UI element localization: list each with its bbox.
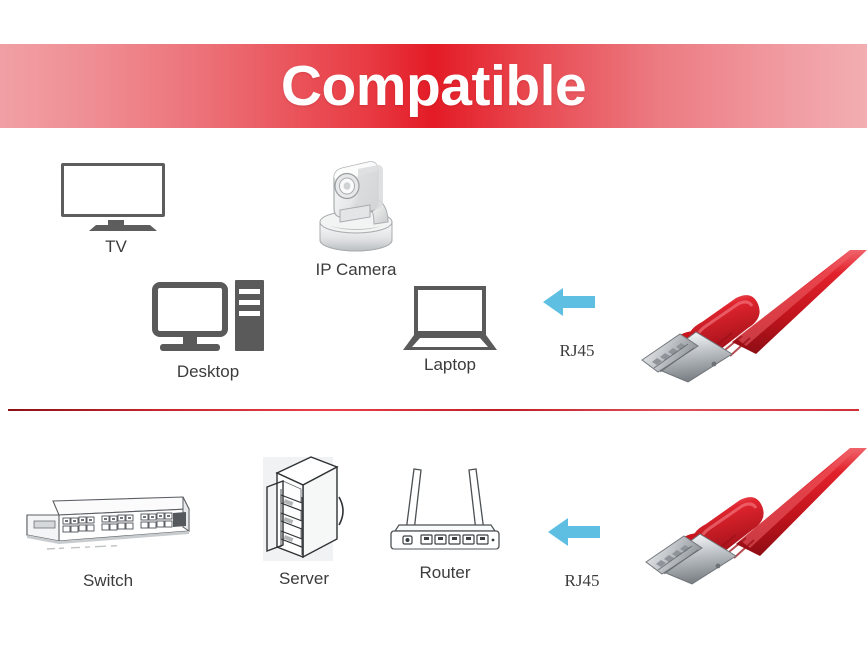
arrow-left-glyph bbox=[546, 515, 602, 549]
tv-screen bbox=[61, 163, 165, 217]
device-switch: Switch bbox=[22, 495, 194, 591]
arrow-left-icon bbox=[541, 285, 597, 319]
rj45-indicator-top: RJ45 bbox=[541, 285, 613, 361]
ethernet-cable-icon bbox=[644, 448, 867, 583]
ethernet-cable-icon bbox=[636, 250, 867, 380]
arrow-left-icon bbox=[546, 515, 602, 549]
ip-camera-glyph bbox=[310, 160, 402, 256]
laptop-glyph bbox=[403, 287, 497, 351]
device-tv: TV bbox=[58, 163, 174, 257]
device-server: Server bbox=[261, 455, 347, 589]
device-desktop: Desktop bbox=[150, 280, 266, 382]
tower-bay bbox=[239, 300, 260, 305]
header-banner: Compatible bbox=[0, 44, 867, 128]
desktop-monitor-foot bbox=[160, 344, 220, 351]
network-switch-glyph bbox=[23, 495, 193, 559]
ip-camera-icon bbox=[310, 160, 402, 256]
device-ip-camera: IP Camera bbox=[296, 160, 416, 280]
rj45-indicator-bottom: RJ45 bbox=[546, 515, 618, 591]
router-label: Router bbox=[385, 563, 505, 583]
desktop-tower bbox=[235, 280, 264, 351]
server-label: Server bbox=[261, 569, 347, 589]
ethernet-cable-top bbox=[636, 250, 867, 380]
desktop-monitor bbox=[152, 282, 228, 337]
wireless-router-glyph bbox=[385, 465, 505, 557]
rj45-label-top: RJ45 bbox=[541, 341, 613, 361]
server-rack-glyph bbox=[261, 455, 347, 563]
network-switch-icon bbox=[23, 495, 193, 559]
product-compatibility-infographic: Compatible TV bbox=[0, 0, 867, 650]
laptop-label: Laptop bbox=[403, 355, 497, 375]
tv-label: TV bbox=[58, 237, 174, 257]
tower-bay bbox=[239, 289, 260, 294]
rj45-label-bottom: RJ45 bbox=[546, 571, 618, 591]
desktop-icon bbox=[152, 280, 264, 358]
laptop-icon bbox=[403, 287, 497, 351]
server-rack-icon bbox=[261, 455, 347, 563]
ip-camera-label: IP Camera bbox=[296, 260, 416, 280]
device-router: Router bbox=[385, 465, 505, 583]
wireless-router-icon bbox=[385, 465, 505, 557]
switch-label: Switch bbox=[22, 571, 194, 591]
ethernet-cable-bottom bbox=[644, 448, 867, 583]
tv-stand bbox=[89, 225, 157, 231]
tv-icon bbox=[61, 163, 171, 233]
desktop-label: Desktop bbox=[150, 362, 266, 382]
arrow-left-glyph bbox=[541, 285, 597, 319]
page-title: Compatible bbox=[281, 58, 586, 115]
section-divider bbox=[8, 409, 859, 411]
device-laptop: Laptop bbox=[403, 287, 497, 375]
tower-bay bbox=[239, 311, 260, 316]
